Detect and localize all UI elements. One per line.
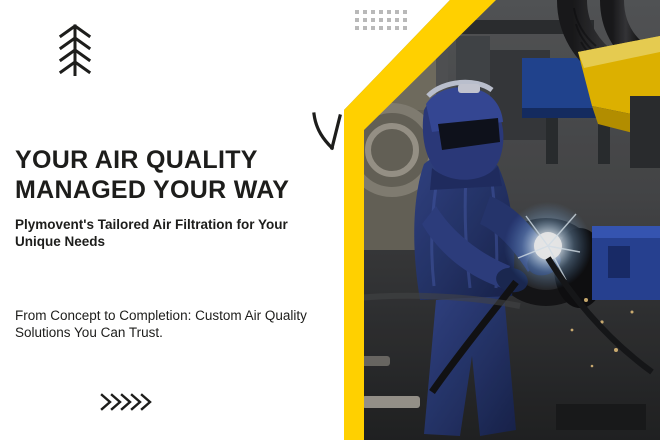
page-title: YOUR AIR QUALITY MANAGED YOUR WAY [15,145,345,205]
dot-grid-icon [355,10,411,32]
hero-photo [340,0,660,440]
arrow-hook-icon [310,112,344,154]
text-column: YOUR AIR QUALITY MANAGED YOUR WAY Plymov… [0,0,340,440]
chevrons-up-icon [57,24,93,76]
chevrons-right-icon [100,392,156,412]
subheadline: Plymovent's Tailored Air Filtration for … [15,216,325,250]
body-copy: From Concept to Completion: Custom Air Q… [15,307,315,341]
banner: YOUR AIR QUALITY MANAGED YOUR WAY Plymov… [0,0,660,440]
hero-photo-illustration [340,0,660,440]
